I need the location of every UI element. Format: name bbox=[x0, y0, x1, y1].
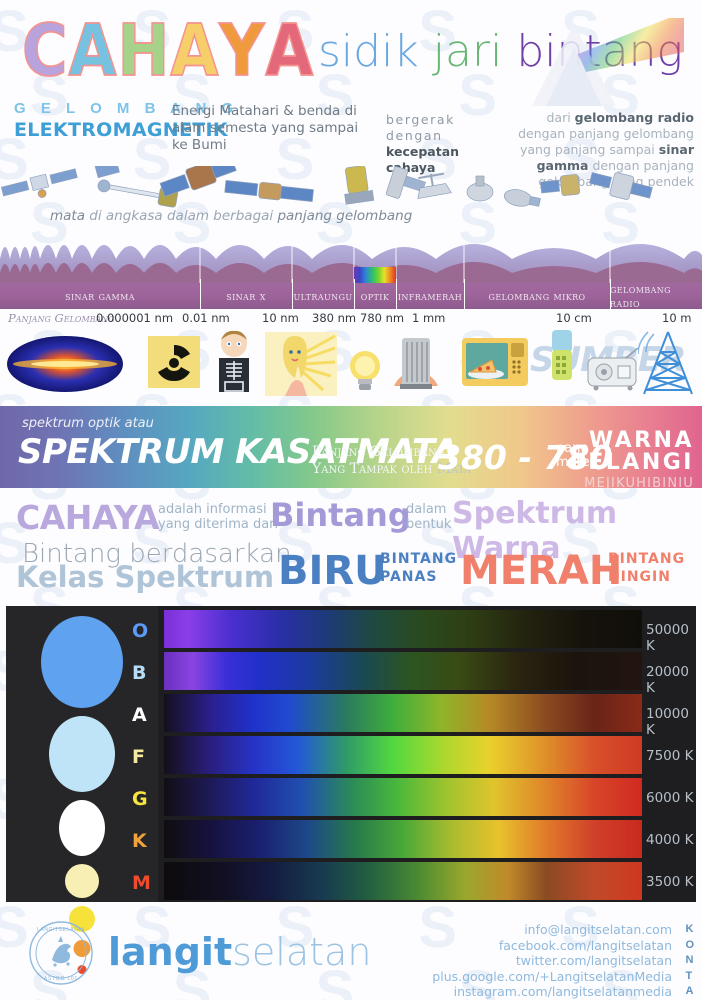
em-band-4[interactable]: Inframerah bbox=[396, 283, 464, 309]
statement-adalah: adalah informasi yang diterima dari bbox=[158, 502, 278, 532]
intro-bergerak-text: bergerak dengan bbox=[386, 112, 501, 144]
title-letter-5: A bbox=[265, 15, 314, 86]
title-letter-1: A bbox=[69, 15, 118, 86]
temperature-label-B: 20000 K bbox=[646, 664, 696, 696]
statement-bintang: Bintang bbox=[270, 496, 411, 534]
brand-langit: langit bbox=[108, 930, 232, 974]
em-band-1[interactable]: Sinar X bbox=[200, 283, 292, 309]
spectrum-strip-M bbox=[164, 862, 642, 900]
wavelength-tick-0: 0.000001 nm bbox=[96, 311, 173, 325]
statement-dalam: dalam bentuk bbox=[406, 502, 451, 532]
star-size-A bbox=[59, 800, 105, 856]
optical-rainbow-strip bbox=[354, 267, 396, 283]
radio-receiver-icon bbox=[586, 348, 642, 392]
spectrum-strip-K bbox=[164, 820, 642, 858]
kontak-char: N bbox=[685, 953, 694, 969]
subtitle-word-1: jari bbox=[433, 30, 503, 74]
em-band-6[interactable]: Gelombang radio bbox=[610, 283, 702, 309]
statement-adalah-l1: adalah informasi bbox=[158, 502, 278, 517]
title-letter-4: Y bbox=[219, 15, 265, 86]
heater-icon bbox=[390, 332, 442, 392]
kontak-char: O bbox=[685, 938, 694, 954]
spectral-class-letter-G: G bbox=[132, 788, 148, 810]
spectrum-strip-F bbox=[164, 736, 642, 774]
desc-yang: Yang bbox=[312, 461, 350, 477]
statement-dalam-l2: bentuk bbox=[406, 517, 451, 532]
spectrum-strip-A bbox=[164, 694, 642, 732]
wavelength-waves-graphic bbox=[0, 225, 702, 287]
wavelength-tick-3: 380 nm bbox=[312, 311, 356, 325]
footer: LANGITSELATAN ASTRO 101 langitselatan in… bbox=[0, 908, 702, 1000]
contact-line-4[interactable]: instagram.com/langitselatanmedia bbox=[432, 984, 672, 1000]
wavelength-tick-5: 1 mm bbox=[412, 311, 445, 325]
temperature-label-G: 6000 K bbox=[646, 790, 694, 806]
wavelength-tick-2: 10 nm bbox=[262, 311, 299, 325]
em-band-2[interactable]: Ultraungu bbox=[292, 283, 354, 309]
statement-adalah-l2: yang diterima dari bbox=[158, 517, 278, 532]
langitselatan-seal-logo: LANGITSELATAN ASTRO 101 bbox=[28, 920, 94, 986]
satellite-caption-mata: mata bbox=[50, 208, 85, 224]
desc-tampak: Tampak oleh bbox=[350, 461, 437, 477]
wavelength-tick-6: 10 cm bbox=[556, 311, 592, 325]
satellite-caption: mata di angkasa dalam berbagai panjang g… bbox=[50, 208, 412, 224]
lightbulb-icon bbox=[345, 346, 385, 394]
visible-spectrum-banner: spektrum optik atau SPEKTRUM KASATMATA P… bbox=[0, 406, 702, 488]
xray-child-icon bbox=[210, 330, 258, 396]
brand-wordmark: langitselatan bbox=[108, 930, 371, 974]
kontak-vertical-label: KONTAK bbox=[685, 922, 694, 1000]
dingin-l2: DINGIN bbox=[608, 568, 685, 586]
em-spectrum-bar: Sinar GammaSinar XUltraunguOptikInframer… bbox=[0, 283, 702, 309]
em-band-0[interactable]: Sinar Gamma bbox=[0, 283, 200, 309]
em-band-divider-1 bbox=[292, 279, 293, 309]
contact-list: info@langitselatan.comfacebook.com/langi… bbox=[432, 922, 672, 1000]
svg-text:LANGITSELATAN: LANGITSELATAN bbox=[37, 927, 85, 933]
spectral-class-letter-F: F bbox=[132, 746, 145, 768]
kontak-char: A bbox=[685, 984, 694, 1000]
brand-selatan: selatan bbox=[232, 930, 371, 974]
satellite-caption-panjang: panjang gelombang bbox=[277, 208, 412, 224]
mobile-phone-icon bbox=[548, 330, 576, 382]
em-band-divider-4 bbox=[464, 279, 465, 309]
statement-biru: BIRU bbox=[278, 548, 387, 594]
desc-panjang: Panjang bbox=[312, 444, 370, 460]
em-band-3[interactable]: Optik bbox=[354, 283, 396, 309]
spectrum-strip-G bbox=[164, 778, 642, 816]
intro-col-energy: Energi Matahari & benda di alam semesta … bbox=[172, 103, 372, 154]
wavelength-tick-row: Panjang Gelombang 0.000001 nm0.01 nm10 n… bbox=[0, 311, 702, 331]
warna-line2: PELANGI bbox=[570, 452, 694, 474]
em-band-divider-2 bbox=[354, 279, 355, 309]
wavelength-tick-7: 10 m bbox=[662, 311, 692, 325]
spectral-class-chart: OBAFGKM 50000 K20000 K10000 K7500 K6000 … bbox=[6, 606, 696, 902]
panas-l1: BINTANG bbox=[380, 550, 457, 568]
sunbathing-woman-icon bbox=[265, 332, 337, 396]
page-title: CAHAYA bbox=[22, 20, 314, 82]
wavelength-tick-4: 780 nm bbox=[360, 311, 404, 325]
em-band-5[interactable]: Gelombang mikro bbox=[464, 283, 610, 309]
intro-radio-text: gelombang radio bbox=[575, 110, 694, 125]
subtitle-word-0: sidik bbox=[318, 30, 419, 74]
temperature-label-F: 7500 K bbox=[646, 748, 694, 764]
sources-icon-row bbox=[0, 330, 702, 400]
title-letter-2: H bbox=[118, 15, 171, 86]
svg-text:ASTRO 101: ASTRO 101 bbox=[44, 976, 78, 982]
star-size-F bbox=[65, 864, 99, 898]
statement-kelas-spektrum: Kelas Spektrum bbox=[16, 560, 274, 594]
statement-dalam-l1: dalam bbox=[406, 502, 451, 517]
spectral-class-letter-A: A bbox=[132, 704, 147, 726]
temperature-label-O: 50000 K bbox=[646, 622, 696, 654]
desc-gelombang: Gelombang bbox=[370, 444, 445, 460]
statement-section: CAHAYA adalah informasi yang diterima da… bbox=[0, 492, 702, 594]
header: CAHAYA sidik jari bintang bbox=[0, 0, 702, 100]
microwave-pizza-icon bbox=[462, 338, 528, 386]
star-size-O bbox=[41, 616, 123, 708]
temperature-label-A: 10000 K bbox=[646, 706, 696, 738]
satellite-caption-mid: di angkasa dalam berbagai bbox=[85, 208, 277, 224]
warna-line1: WARNA bbox=[570, 430, 694, 452]
subtitle-word-2: bintang bbox=[516, 30, 683, 74]
statement-merah: MERAH bbox=[460, 548, 622, 594]
star-size-B bbox=[49, 716, 115, 792]
title-letter-3: A bbox=[170, 15, 219, 86]
contact-line-3[interactable]: plus.google.com/+LangitselatanMedia bbox=[432, 969, 672, 985]
temperature-label-K: 4000 K bbox=[646, 832, 694, 848]
em-band-divider-5 bbox=[610, 279, 611, 309]
title-letter-0: C bbox=[22, 15, 69, 86]
spectral-class-letter-M: M bbox=[132, 872, 151, 894]
gamma-sky-map-icon bbox=[6, 334, 124, 394]
spectral-class-letter-O: O bbox=[132, 620, 148, 642]
spectral-class-letter-K: K bbox=[132, 830, 147, 852]
spectrum-strip-O bbox=[164, 610, 642, 648]
radioactive-icon bbox=[148, 336, 200, 388]
contact-line-2[interactable]: twitter.com/langitselatan bbox=[432, 953, 672, 969]
page-subtitle: sidik jari bintang bbox=[318, 30, 683, 74]
radio-tower-icon bbox=[638, 330, 698, 396]
contact-line-1[interactable]: facebook.com/langitselatan bbox=[432, 938, 672, 954]
temperature-label-M: 3500 K bbox=[646, 874, 694, 890]
statement-bintang-dingin: BINTANG DINGIN bbox=[608, 550, 685, 586]
dingin-l1: BINTANG bbox=[608, 550, 685, 568]
spectral-class-letter-B: B bbox=[132, 662, 146, 684]
kontak-char: K bbox=[685, 922, 694, 938]
contact-line-0[interactable]: info@langitselatan.com bbox=[432, 922, 672, 938]
statement-bintang-panas: BINTANG PANAS bbox=[380, 550, 457, 586]
warna-pelangi-label: WARNA PELANGI bbox=[570, 430, 694, 474]
infographic-page: S S S S S S S S S S S SS S S S S S S S S… bbox=[0, 0, 702, 1000]
kontak-char: T bbox=[685, 969, 694, 985]
statement-cahaya: CAHAYA bbox=[16, 498, 159, 537]
em-band-divider-3 bbox=[396, 279, 397, 309]
em-band-divider-0 bbox=[200, 279, 201, 309]
intro-dari-text: dari bbox=[546, 110, 574, 125]
spectrum-strip-B bbox=[164, 652, 642, 690]
mnemonic-text: MEJIKUHIBINIU bbox=[584, 476, 694, 488]
wavelength-tick-1: 0.01 nm bbox=[182, 311, 230, 325]
panas-l2: PANAS bbox=[380, 568, 457, 586]
visible-spectrum-subtitle: spektrum optik atau bbox=[22, 416, 154, 431]
satellite-band: mata di angkasa dalam berbagai panjang g… bbox=[0, 166, 702, 228]
